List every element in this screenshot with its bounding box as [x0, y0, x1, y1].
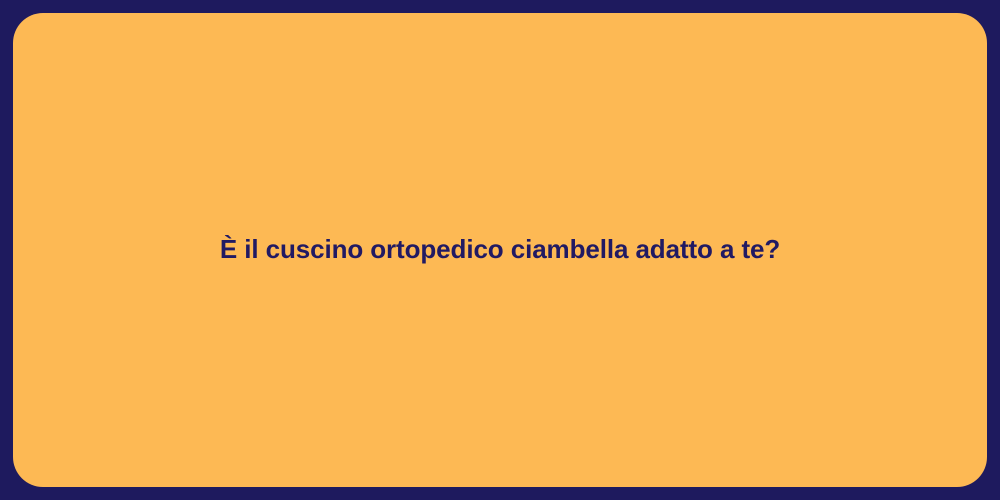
- banner-outer-frame: È il cuscino ortopedico ciambella adatto…: [0, 0, 1000, 500]
- banner-panel: È il cuscino ortopedico ciambella adatto…: [13, 13, 987, 487]
- banner-headline: È il cuscino ortopedico ciambella adatto…: [180, 234, 820, 265]
